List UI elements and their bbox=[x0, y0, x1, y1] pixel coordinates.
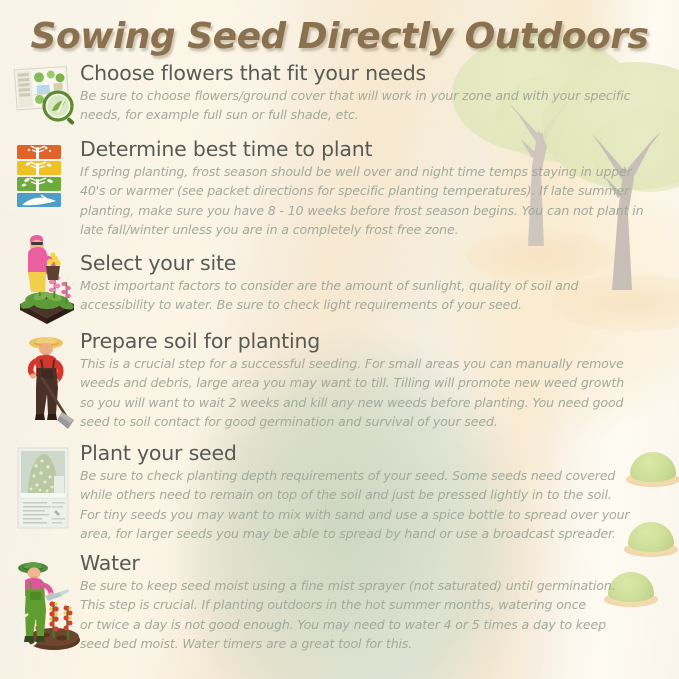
step-heading: Plant your seed bbox=[80, 442, 657, 465]
step-plant-seed: Plant your seed Be sure to check plantin… bbox=[0, 442, 679, 552]
page-title: Sowing Seed Directly Outdoors bbox=[0, 16, 679, 57]
step-text: This is a crucial step for a successful … bbox=[80, 354, 657, 432]
step-water: Water Be sure to keep seed moist using a… bbox=[0, 552, 679, 662]
step-choose-flowers: Choose flowers that fit your needs Be su… bbox=[0, 62, 679, 138]
seed-packet-icon bbox=[16, 446, 82, 532]
step-determine-time: Determine best time to plant If spring p… bbox=[0, 138, 679, 252]
step-heading: Choose flowers that fit your needs bbox=[80, 62, 657, 85]
gardener-watering-icon bbox=[12, 554, 78, 654]
poster-content: Sowing Seed Directly Outdoors bbox=[0, 0, 679, 679]
step-text: If spring planting, frost season should … bbox=[80, 162, 657, 240]
step-prepare-soil: Prepare soil for planting This is a cruc… bbox=[0, 330, 679, 442]
step-heading: Determine best time to plant bbox=[80, 138, 657, 161]
gardener-planting-flowerbed-icon bbox=[14, 224, 80, 328]
gardener-with-shovel-icon bbox=[20, 330, 86, 434]
four-seasons-bars-icon bbox=[16, 144, 82, 210]
step-heading: Prepare soil for planting bbox=[80, 330, 657, 353]
step-heading: Water bbox=[80, 552, 657, 575]
steps-list: Choose flowers that fit your needs Be su… bbox=[0, 62, 679, 662]
step-text: Be sure to keep seed moist using a fine … bbox=[80, 576, 657, 654]
step-text: Most important factors to consider are t… bbox=[80, 276, 657, 315]
step-text: Be sure to check planting depth requirem… bbox=[80, 466, 657, 544]
step-select-site: Select your site Most important factors … bbox=[0, 252, 679, 330]
infographic-poster: Sowing Seed Directly Outdoors bbox=[0, 0, 679, 679]
step-text: Be sure to choose flowers/ground cover t… bbox=[80, 86, 657, 125]
step-heading: Select your site bbox=[80, 252, 657, 275]
garden-plan-magnifier-icon bbox=[12, 64, 78, 128]
